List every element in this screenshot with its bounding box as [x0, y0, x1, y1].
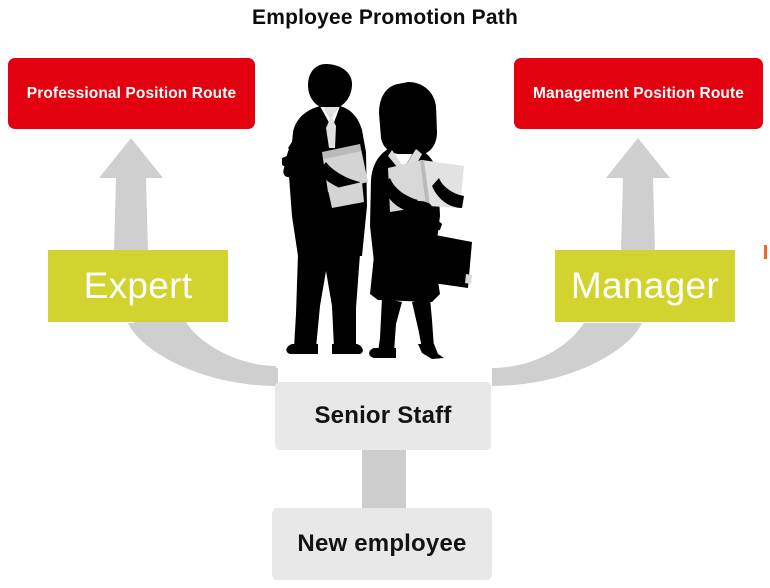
- arrow-manager-to-management: [606, 138, 670, 252]
- node-new-employee[interactable]: New employee: [272, 508, 492, 580]
- edge-artifact-mark: [764, 245, 767, 259]
- connector-senior-to-manager: [492, 323, 642, 386]
- promotion-path-diagram: Employee Promotion Path: [0, 0, 770, 588]
- connector-senior-to-expert-fill: [128, 323, 278, 386]
- node-expert[interactable]: Expert: [48, 250, 228, 322]
- arrow-expert-to-professional: [99, 138, 163, 252]
- node-professional-position-route[interactable]: Professional Position Route: [8, 58, 255, 129]
- business-people-silhouette-icon: [282, 56, 480, 362]
- node-management-position-route[interactable]: Management Position Route: [514, 58, 763, 129]
- node-manager[interactable]: Manager: [555, 250, 735, 322]
- connector-new-to-senior: [362, 447, 406, 511]
- node-senior-staff[interactable]: Senior Staff: [275, 382, 491, 450]
